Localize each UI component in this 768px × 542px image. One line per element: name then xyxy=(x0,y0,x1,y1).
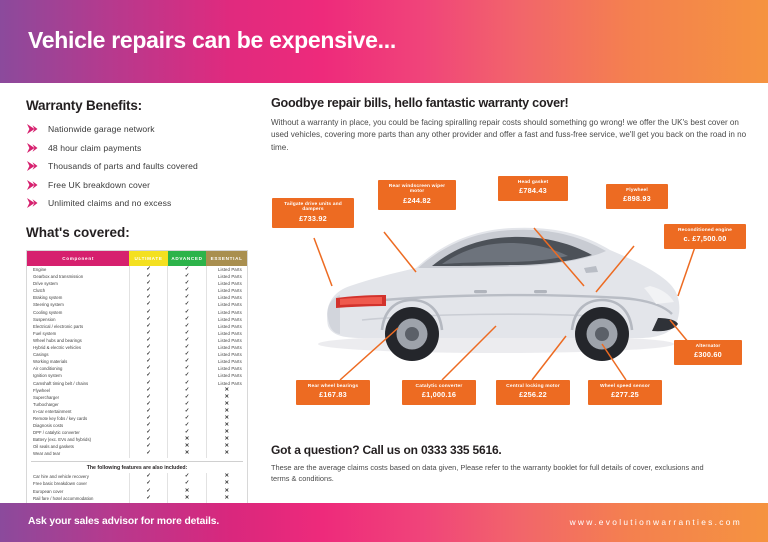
cell-tick-ultimate: ✓ xyxy=(129,372,168,379)
cell-listed-parts-essential: Listed Parts xyxy=(206,380,247,387)
cell-tick-ultimate: ✓ xyxy=(129,330,168,337)
callout-amount: c. £7,500.00 xyxy=(670,235,740,243)
cell-tick-ultimate: ✓ xyxy=(129,394,168,401)
cell-tick-advanced: ✓ xyxy=(168,351,207,358)
cell-listed-parts-essential: Listed Parts xyxy=(206,316,247,323)
cell-listed-parts-essential: Listed Parts xyxy=(206,301,247,308)
callout-label: Central locking motor xyxy=(502,384,564,389)
cell-tick-ultimate: ✓ xyxy=(129,443,168,450)
cell-cross-essential: ✕ xyxy=(206,422,247,429)
cell-tick-ultimate: ✓ xyxy=(129,408,168,415)
callout-label: Tailgate drive units and dampers xyxy=(278,202,348,213)
cell-tick-ultimate: ✓ xyxy=(129,387,168,394)
cell-listed-parts-essential: Listed Parts xyxy=(206,372,247,379)
table-row: In-car entertainment✓✓✕ xyxy=(27,408,247,415)
table-row: Steering system✓✓Listed Parts xyxy=(27,301,247,308)
callout-alternator: Alternator £300.60 xyxy=(674,340,742,365)
header-banner: Vehicle repairs can be expensive... xyxy=(0,0,768,83)
cell-component: Car hire and vehicle recovery xyxy=(27,473,129,481)
benefits-list: Nationwide garage network48 hour claim p… xyxy=(26,123,248,209)
extra-features-body: Car hire and vehicle recovery✓✓✕Free bas… xyxy=(27,473,247,503)
table-row: Fuel system✓✓Listed Parts xyxy=(27,330,247,337)
contact-section: Got a question? Call us on 0333 335 5616… xyxy=(271,443,711,484)
car-diagram: Tailgate drive units and dampers £733.92… xyxy=(266,168,766,430)
cell-tick-advanced: ✓ xyxy=(168,273,207,280)
callout-label: Rear wheel bearings xyxy=(302,384,364,389)
cell-tick-ultimate: ✓ xyxy=(129,480,168,488)
benefit-label: 48 hour claim payments xyxy=(48,143,141,153)
cell-tick-advanced: ✓ xyxy=(168,473,207,481)
callout-amount: £898.93 xyxy=(612,195,662,203)
table-row: Suspension✓✓Listed Parts xyxy=(27,316,247,323)
benefit-item: Unlimited claims and no excess xyxy=(26,197,248,209)
cell-cross-advanced: ✕ xyxy=(168,450,207,457)
callout-tailgate-drive-units: Tailgate drive units and dampers £733.92 xyxy=(272,198,354,228)
cell-listed-parts-essential: Listed Parts xyxy=(206,294,247,301)
cell-tick-ultimate: ✓ xyxy=(129,344,168,351)
cell-cross-essential: ✕ xyxy=(206,473,247,481)
cell-tick-ultimate: ✓ xyxy=(129,436,168,443)
cell-component: Steering system xyxy=(27,301,129,308)
cell-component: In-car entertainment xyxy=(27,408,129,415)
cell-tick-advanced: ✓ xyxy=(168,358,207,365)
callout-label: Head gasket xyxy=(504,180,562,185)
callout-label: Wheel speed sensor xyxy=(594,384,656,389)
table-row: Braking system✓✓Listed Parts xyxy=(27,294,247,301)
callout-head-gasket: Head gasket £784.43 xyxy=(498,176,568,201)
table-row: Air conditioning✓✓Listed Parts xyxy=(27,365,247,372)
cell-tick-advanced: ✓ xyxy=(168,266,207,273)
benefit-item: 48 hour claim payments xyxy=(26,142,248,154)
callout-amount: £244.82 xyxy=(384,197,450,205)
cell-component: Supercharger xyxy=(27,394,129,401)
cell-tick-advanced: ✓ xyxy=(168,301,207,308)
cell-cross-essential: ✕ xyxy=(206,450,247,457)
column-header-ultimate: ULTIMATE xyxy=(129,251,168,266)
cell-component: Engine xyxy=(27,266,129,273)
cell-tick-advanced: ✓ xyxy=(168,480,207,488)
cell-tick-advanced: ✓ xyxy=(168,309,207,316)
contact-disclaimer: These are the average claims costs based… xyxy=(271,463,711,484)
cell-component: Drive system xyxy=(27,280,129,287)
chevron-right-icon xyxy=(26,142,39,154)
cell-cross-essential: ✕ xyxy=(206,480,247,488)
cell-listed-parts-essential: Listed Parts xyxy=(206,351,247,358)
cell-tick-advanced: ✓ xyxy=(168,372,207,379)
cell-cross-essential: ✕ xyxy=(206,436,247,443)
cell-component: Gearbox and transmission xyxy=(27,273,129,280)
cell-cross-advanced: ✕ xyxy=(168,495,207,503)
callout-reconditioned-engine: Reconditioned engine c. £7,500.00 xyxy=(664,224,746,249)
extra-features-table: Car hire and vehicle recovery✓✓✕Free bas… xyxy=(27,473,247,503)
cell-component: Casings xyxy=(27,351,129,358)
main-content: Goodbye repair bills, hello fantastic wa… xyxy=(271,96,749,154)
cell-tick-ultimate: ✓ xyxy=(129,316,168,323)
cell-component: Suspension xyxy=(27,316,129,323)
benefit-label: Free UK breakdown cover xyxy=(48,180,150,190)
benefit-label: Nationwide garage network xyxy=(48,124,155,134)
callout-flywheel: Flywheel £898.93 xyxy=(606,184,668,209)
cell-component: Ignition system xyxy=(27,372,129,379)
cell-listed-parts-essential: Listed Parts xyxy=(206,365,247,372)
extra-features-heading: The following features are also included… xyxy=(27,462,247,473)
cell-tick-advanced: ✓ xyxy=(168,429,207,436)
cell-tick-advanced: ✓ xyxy=(168,380,207,387)
contact-heading: Got a question? Call us on 0333 335 5616… xyxy=(271,443,711,457)
cell-tick-ultimate: ✓ xyxy=(129,301,168,308)
callout-amount: £167.83 xyxy=(302,391,364,399)
car-illustration xyxy=(318,228,679,361)
benefit-label: Unlimited claims and no excess xyxy=(48,198,171,208)
cell-tick-advanced: ✓ xyxy=(168,330,207,337)
table-row: Camshaft timing belt / chains✓✓Listed Pa… xyxy=(27,380,247,387)
table-row: Battery (exc. EVs and hybrids)✓✕✕ xyxy=(27,436,247,443)
sidebar: Warranty Benefits: Nationwide garage net… xyxy=(26,98,248,510)
cell-tick-advanced: ✓ xyxy=(168,337,207,344)
cell-tick-ultimate: ✓ xyxy=(129,294,168,301)
table-row: Wheel hubs and bearings✓✓Listed Parts xyxy=(27,337,247,344)
cell-tick-advanced: ✓ xyxy=(168,394,207,401)
cell-listed-parts-essential: Listed Parts xyxy=(206,344,247,351)
footer-website[interactable]: www.evolutionwarranties.com xyxy=(570,517,742,527)
whats-covered-heading: What's covered: xyxy=(26,225,248,240)
footer-cta: Ask your sales advisor for more details. xyxy=(28,516,219,527)
cell-tick-ultimate: ✓ xyxy=(129,429,168,436)
extra-table-row: Rail fare / hotel accommodation✓✕✕ xyxy=(27,495,247,503)
callout-catalytic-converter: Catalytic converter £1,000.16 xyxy=(402,380,476,405)
cell-tick-ultimate: ✓ xyxy=(129,473,168,481)
callout-amount: £733.92 xyxy=(278,215,348,223)
table-row: Ignition system✓✓Listed Parts xyxy=(27,372,247,379)
cell-tick-advanced: ✓ xyxy=(168,316,207,323)
table-row: Remote key fobs / key cards✓✓✕ xyxy=(27,415,247,422)
callout-amount: £1,000.16 xyxy=(408,391,470,399)
main-heading: Goodbye repair bills, hello fantastic wa… xyxy=(271,96,749,110)
cell-tick-advanced: ✓ xyxy=(168,287,207,294)
table-row: Drive system✓✓Listed Parts xyxy=(27,280,247,287)
cell-tick-ultimate: ✓ xyxy=(129,401,168,408)
page-title: Vehicle repairs can be expensive... xyxy=(28,27,396,54)
cell-tick-advanced: ✓ xyxy=(168,365,207,372)
table-row: Supercharger✓✓✕ xyxy=(27,394,247,401)
column-header-essential: ESSENTIAL xyxy=(206,251,247,266)
cell-cross-essential: ✕ xyxy=(206,429,247,436)
cell-tick-ultimate: ✓ xyxy=(129,337,168,344)
cell-listed-parts-essential: Listed Parts xyxy=(206,273,247,280)
cell-listed-parts-essential: Listed Parts xyxy=(206,330,247,337)
cell-tick-advanced: ✓ xyxy=(168,294,207,301)
table-row: Clutch✓✓Listed Parts xyxy=(27,287,247,294)
callout-amount: £300.60 xyxy=(680,351,736,359)
cell-tick-ultimate: ✓ xyxy=(129,415,168,422)
cell-cross-essential: ✕ xyxy=(206,443,247,450)
cell-component: DPF / catalytic converter xyxy=(27,429,129,436)
cell-component: Flywheel xyxy=(27,387,129,394)
benefit-label: Thousands of parts and faults covered xyxy=(48,161,198,171)
cell-component: Electrical / electronic parts xyxy=(27,323,129,330)
table-row: Gearbox and transmission✓✓Listed Parts xyxy=(27,273,247,280)
table-row: DPF / catalytic converter✓✓✕ xyxy=(27,429,247,436)
column-header-component: Component xyxy=(27,251,129,266)
table-row: Diagnosis costs✓✓✕ xyxy=(27,422,247,429)
cell-listed-parts-essential: Listed Parts xyxy=(206,309,247,316)
cell-component: Camshaft timing belt / chains xyxy=(27,380,129,387)
table-row: Wear and tear✓✕✕ xyxy=(27,450,247,457)
extra-table-row: European cover✓✕✕ xyxy=(27,488,247,496)
callout-rear-wheel-bearings: Rear wheel bearings £167.83 xyxy=(296,380,370,405)
cell-component: Fuel system xyxy=(27,330,129,337)
cell-tick-ultimate: ✓ xyxy=(129,287,168,294)
callout-amount: £277.25 xyxy=(594,391,656,399)
cell-cross-essential: ✕ xyxy=(206,401,247,408)
cell-cross-essential: ✕ xyxy=(206,387,247,394)
cell-tick-ultimate: ✓ xyxy=(129,422,168,429)
cell-component: Braking system xyxy=(27,294,129,301)
chevron-right-icon xyxy=(26,197,39,209)
cell-listed-parts-essential: Listed Parts xyxy=(206,337,247,344)
column-header-advanced: ADVANCED xyxy=(168,251,207,266)
chevron-right-icon xyxy=(26,179,39,191)
callout-label: Reconditioned engine xyxy=(670,228,740,233)
cell-listed-parts-essential: Listed Parts xyxy=(206,280,247,287)
cell-component: Cooling system xyxy=(27,309,129,316)
table-row: Engine✓✓Listed Parts xyxy=(27,266,247,273)
table-row: Electrical / electronic parts✓✓Listed Pa… xyxy=(27,323,247,330)
coverage-table-wrapper: Component ULTIMATE ADVANCED ESSENTIAL En… xyxy=(26,250,248,510)
cell-component: Hybrid & electric vehicles xyxy=(27,344,129,351)
cell-cross-essential: ✕ xyxy=(206,495,247,503)
table-row: Cooling system✓✓Listed Parts xyxy=(27,309,247,316)
callout-central-locking-motor: Central locking motor £256.22 xyxy=(496,380,570,405)
chevron-right-icon xyxy=(26,123,39,135)
cell-listed-parts-essential: Listed Parts xyxy=(206,358,247,365)
cell-tick-advanced: ✓ xyxy=(168,408,207,415)
table-row: Working materials✓✓Listed Parts xyxy=(27,358,247,365)
cell-tick-ultimate: ✓ xyxy=(129,488,168,496)
cell-cross-essential: ✕ xyxy=(206,408,247,415)
cell-tick-advanced: ✓ xyxy=(168,280,207,287)
cell-component: European cover xyxy=(27,488,129,496)
extra-table-row: Free basic breakdown cover✓✓✕ xyxy=(27,480,247,488)
callout-rear-windscreen-wiper-motor: Rear windscreen wiper motor £244.82 xyxy=(378,180,456,210)
chevron-right-icon xyxy=(26,160,39,172)
cell-tick-advanced: ✓ xyxy=(168,415,207,422)
cell-component: Clutch xyxy=(27,287,129,294)
callout-label: Rear windscreen wiper motor xyxy=(384,184,450,195)
callout-wheel-speed-sensor: Wheel speed sensor £277.25 xyxy=(588,380,662,405)
cell-component: Wheel hubs and bearings xyxy=(27,337,129,344)
coverage-table-body: Engine✓✓Listed PartsGearbox and transmis… xyxy=(27,266,247,458)
cell-cross-advanced: ✕ xyxy=(168,443,207,450)
table-row: Oil seals and gaskets✓✕✕ xyxy=(27,443,247,450)
cell-tick-ultimate: ✓ xyxy=(129,495,168,503)
cell-cross-essential: ✕ xyxy=(206,415,247,422)
cell-listed-parts-essential: Listed Parts xyxy=(206,287,247,294)
cell-component: Free basic breakdown cover xyxy=(27,480,129,488)
cell-tick-advanced: ✓ xyxy=(168,422,207,429)
cell-listed-parts-essential: Listed Parts xyxy=(206,323,247,330)
cell-tick-ultimate: ✓ xyxy=(129,273,168,280)
cell-component: Oil seals and gaskets xyxy=(27,443,129,450)
footer-banner: Ask your sales advisor for more details.… xyxy=(0,503,768,542)
cell-component: Air conditioning xyxy=(27,365,129,372)
table-row: Casings✓✓Listed Parts xyxy=(27,351,247,358)
cell-cross-advanced: ✕ xyxy=(168,436,207,443)
cell-component: Diagnosis costs xyxy=(27,422,129,429)
table-row: Hybrid & electric vehicles✓✓Listed Parts xyxy=(27,344,247,351)
table-row: Turbocharger✓✓✕ xyxy=(27,401,247,408)
cell-component: Wear and tear xyxy=(27,450,129,457)
cell-tick-ultimate: ✓ xyxy=(129,358,168,365)
cell-component: Battery (exc. EVs and hybrids) xyxy=(27,436,129,443)
coverage-table: Component ULTIMATE ADVANCED ESSENTIAL En… xyxy=(27,251,247,458)
cell-component: Rail fare / hotel accommodation xyxy=(27,495,129,503)
benefit-item: Free UK breakdown cover xyxy=(26,179,248,191)
callout-label: Catalytic converter xyxy=(408,384,470,389)
cell-tick-ultimate: ✓ xyxy=(129,380,168,387)
cell-tick-ultimate: ✓ xyxy=(129,323,168,330)
cell-component: Working materials xyxy=(27,358,129,365)
callout-label: Flywheel xyxy=(612,188,662,193)
cell-tick-advanced: ✓ xyxy=(168,387,207,394)
poster-page: Vehicle repairs can be expensive... Warr… xyxy=(0,0,768,542)
main-body-text: Without a warranty in place, you could b… xyxy=(271,117,749,154)
cell-component: Remote key fobs / key cards xyxy=(27,415,129,422)
table-row: Flywheel✓✓✕ xyxy=(27,387,247,394)
cell-component: Turbocharger xyxy=(27,401,129,408)
cell-tick-ultimate: ✓ xyxy=(129,266,168,273)
callout-label: Alternator xyxy=(680,344,736,349)
benefit-item: Thousands of parts and faults covered xyxy=(26,160,248,172)
cell-tick-advanced: ✓ xyxy=(168,323,207,330)
callout-amount: £256.22 xyxy=(502,391,564,399)
callout-amount: £784.43 xyxy=(504,187,562,195)
cell-tick-advanced: ✓ xyxy=(168,401,207,408)
cell-tick-ultimate: ✓ xyxy=(129,365,168,372)
coverage-table-header-row: Component ULTIMATE ADVANCED ESSENTIAL xyxy=(27,251,247,266)
cell-listed-parts-essential: Listed Parts xyxy=(206,266,247,273)
cell-cross-essential: ✕ xyxy=(206,394,247,401)
cell-tick-ultimate: ✓ xyxy=(129,450,168,457)
cell-tick-ultimate: ✓ xyxy=(129,309,168,316)
cell-tick-ultimate: ✓ xyxy=(129,351,168,358)
cell-tick-advanced: ✓ xyxy=(168,344,207,351)
extra-table-row: Car hire and vehicle recovery✓✓✕ xyxy=(27,473,247,481)
cell-tick-ultimate: ✓ xyxy=(129,280,168,287)
benefits-heading: Warranty Benefits: xyxy=(26,98,248,113)
benefit-item: Nationwide garage network xyxy=(26,123,248,135)
